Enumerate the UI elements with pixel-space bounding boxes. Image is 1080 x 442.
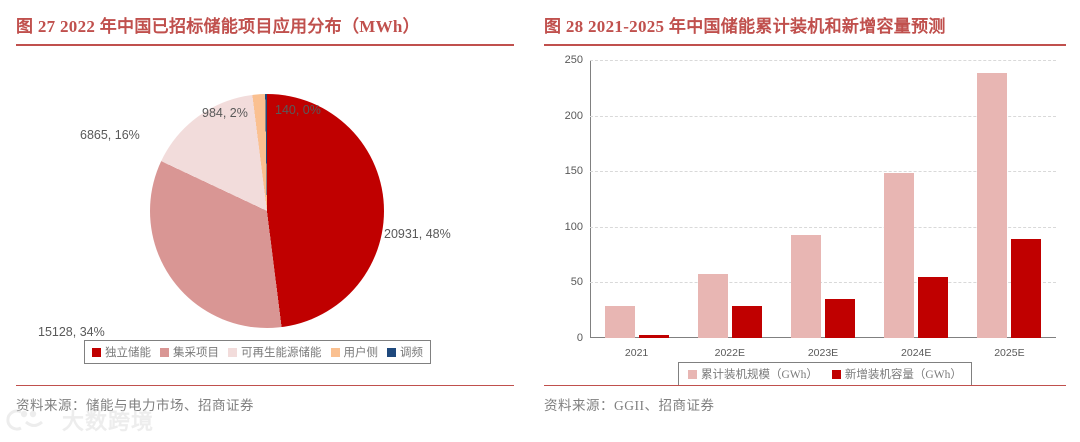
right-footer: 资料来源：GGII、招商证券	[544, 385, 1066, 414]
legend-swatch-duli-chuneng	[92, 348, 101, 357]
legend-label-incremental: 新增装机容量（GWh）	[845, 366, 962, 382]
legend-label-jicai-xiangmu: 集采项目	[173, 344, 219, 360]
right-title-divider	[544, 44, 1066, 46]
legend-label-kezaisheng: 可再生能源储能	[241, 344, 322, 360]
bar-cumulative-2021	[605, 306, 635, 338]
bar-legend: 累计装机规模（GWh） 新增装机容量（GWh）	[678, 362, 972, 386]
x-tick-2021: 2021	[625, 347, 648, 359]
legend-swatch-kezaisheng	[228, 348, 237, 357]
bar-cumulative-2022E	[698, 274, 728, 338]
bar-groups: 2021 2022E 2023E	[590, 60, 1056, 338]
right-figure-title: 图 28 2021-2025 年中国储能累计装机和新增容量预测	[544, 0, 1066, 44]
bar-group-2021: 2021	[590, 60, 683, 338]
pie-chart: 20931, 48% 15128, 34% 6865, 16% 984, 2% …	[16, 50, 514, 350]
pie-legend: 独立储能 集采项目 可再生能源储能 用户侧 调频	[84, 340, 431, 364]
bar-incremental-2025E	[1011, 239, 1041, 338]
bar-incremental-2023E	[825, 299, 855, 338]
legend-label-yonghuce: 用户侧	[344, 344, 379, 360]
bar-legend-item-cumulative: 累计装机规模（GWh）	[688, 366, 818, 382]
bar-plot-area: 0 50 100 150 200 250 2021 2022E	[590, 60, 1056, 338]
y-tick-50: 50	[571, 276, 583, 288]
figure-page: 图 27 2022 年中国已招标储能项目应用分布（MWh） 20931, 48%…	[0, 0, 1080, 442]
y-tick-200: 200	[565, 110, 583, 122]
pie-legend-item-yonghuce: 用户侧	[331, 344, 379, 360]
legend-swatch-tiaopin	[387, 348, 396, 357]
bar-legend-item-incremental: 新增装机容量（GWh）	[832, 366, 962, 382]
pie-label-jicai-xiangmu: 15128, 34%	[38, 325, 105, 339]
x-tick-2025E: 2025E	[994, 347, 1024, 359]
x-tick-2024E: 2024E	[901, 347, 931, 359]
left-source-text: 资料来源：储能与电力市场、招商证券	[16, 386, 514, 414]
y-tick-150: 150	[565, 165, 583, 177]
pie-legend-item-jicai-xiangmu: 集采项目	[160, 344, 219, 360]
legend-swatch-cumulative	[688, 370, 697, 379]
y-tick-0: 0	[577, 332, 583, 344]
left-figure-panel: 图 27 2022 年中国已招标储能项目应用分布（MWh） 20931, 48%…	[0, 0, 530, 442]
bar-group-2025E: 2025E	[963, 60, 1056, 338]
pie-label-kezaisheng: 6865, 16%	[80, 128, 140, 142]
left-figure-title: 图 27 2022 年中国已招标储能项目应用分布（MWh）	[16, 0, 514, 44]
legend-label-tiaopin: 调频	[400, 344, 423, 360]
pie-graphic	[150, 94, 384, 328]
bar-incremental-2021	[639, 335, 669, 338]
bar-incremental-2022E	[732, 306, 762, 338]
left-footer: 资料来源：储能与电力市场、招商证券	[16, 385, 514, 414]
bar-group-2024E: 2024E	[870, 60, 963, 338]
pie-legend-item-duli-chuneng: 独立储能	[92, 344, 151, 360]
pie-slices	[150, 94, 384, 328]
pie-label-tiaopin: 140, 0%	[275, 103, 321, 117]
bar-group-2022E: 2022E	[683, 60, 776, 338]
bar-group-2023E: 2023E	[776, 60, 869, 338]
y-tick-100: 100	[565, 221, 583, 233]
legend-swatch-incremental	[832, 370, 841, 379]
x-tick-2023E: 2023E	[808, 347, 838, 359]
pie-legend-item-kezaisheng: 可再生能源储能	[228, 344, 322, 360]
pie-legend-item-tiaopin: 调频	[387, 344, 423, 360]
bar-cumulative-2025E	[977, 73, 1007, 338]
bar-incremental-2024E	[918, 277, 948, 338]
x-tick-2022E: 2022E	[715, 347, 745, 359]
bar-cumulative-2023E	[791, 235, 821, 338]
right-source-text: 资料来源：GGII、招商证券	[544, 386, 1066, 414]
legend-label-duli-chuneng: 独立储能	[105, 344, 151, 360]
legend-swatch-yonghuce	[331, 348, 340, 357]
legend-label-cumulative: 累计装机规模（GWh）	[701, 366, 818, 382]
bar-cumulative-2024E	[884, 173, 914, 338]
right-figure-panel: 图 28 2021-2025 年中国储能累计装机和新增容量预测 0 50 100…	[530, 0, 1080, 442]
legend-swatch-jicai-xiangmu	[160, 348, 169, 357]
pie-label-duli-chuneng: 20931, 48%	[384, 227, 451, 241]
bar-chart: 0 50 100 150 200 250 2021 2022E	[544, 50, 1066, 390]
y-tick-250: 250	[565, 54, 583, 66]
pie-label-yonghuce: 984, 2%	[202, 106, 248, 120]
left-title-divider	[16, 44, 514, 46]
